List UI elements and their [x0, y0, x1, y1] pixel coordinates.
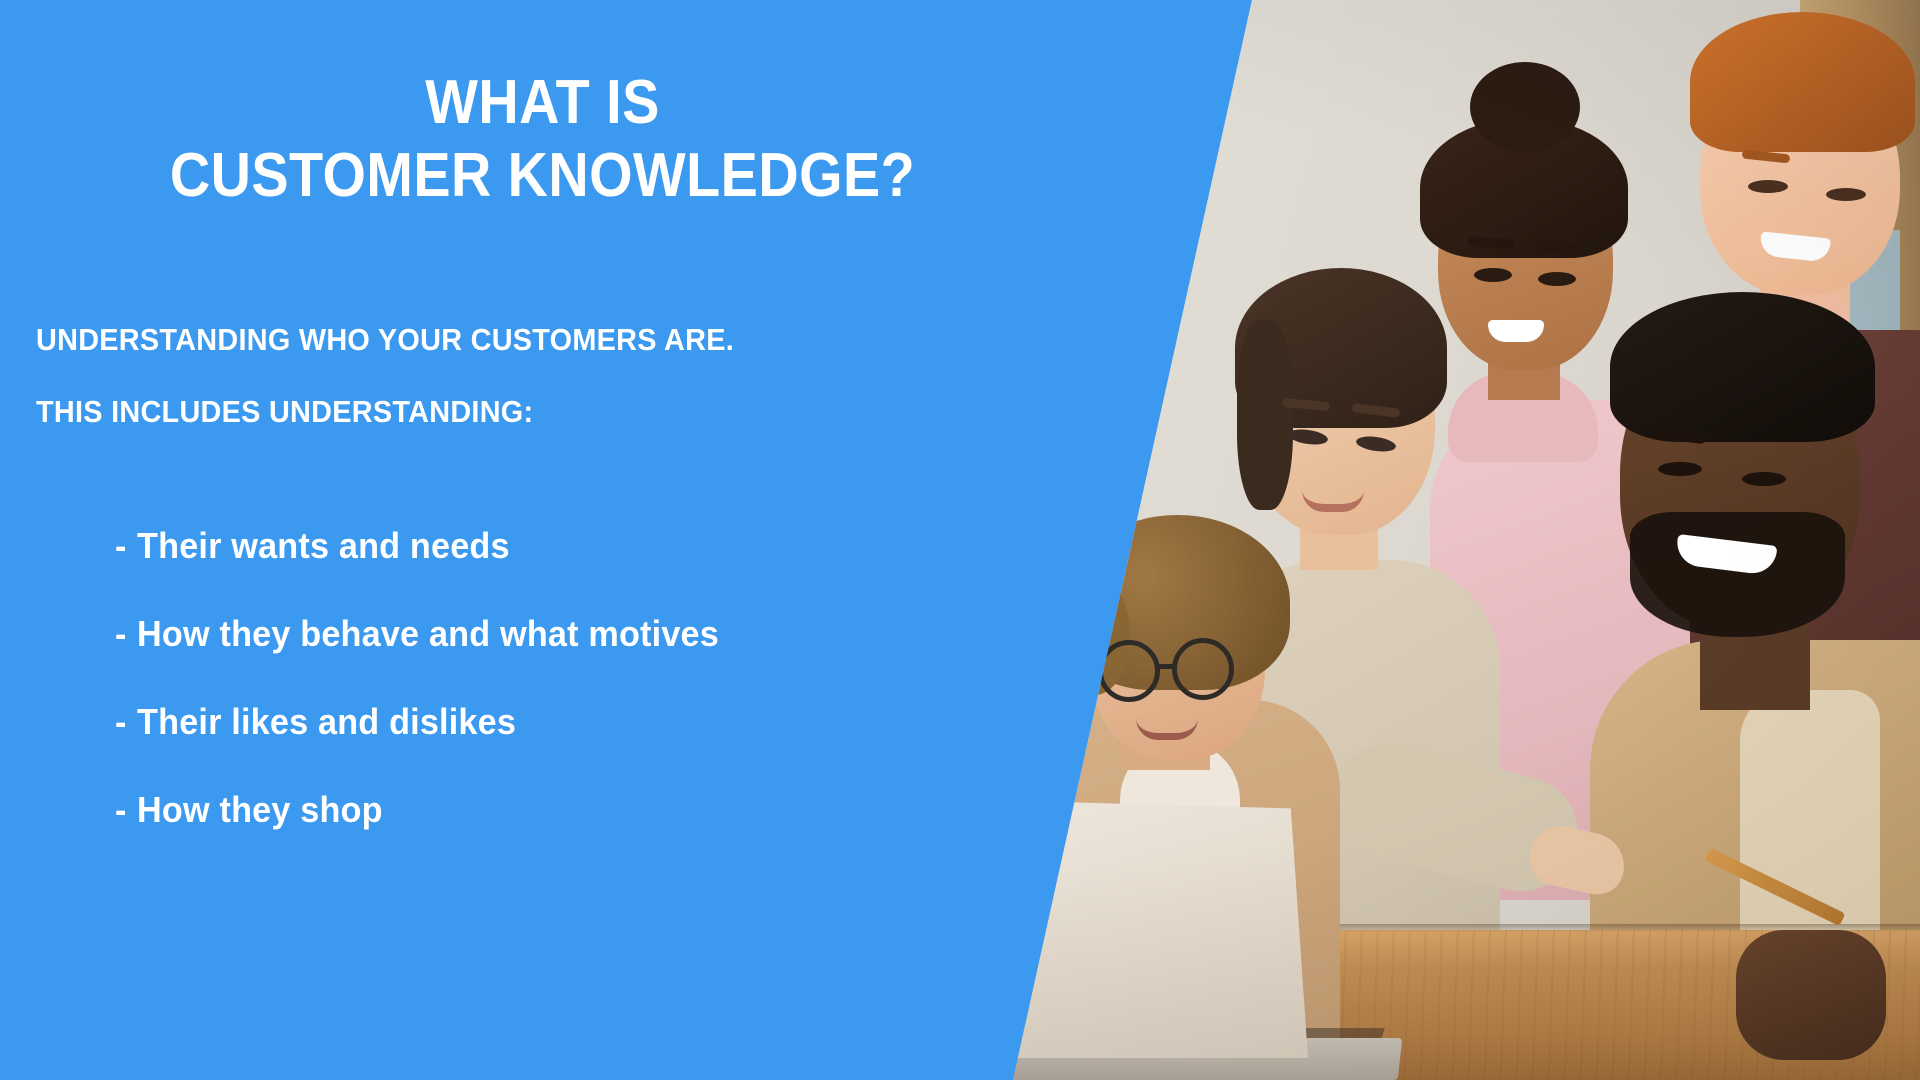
bullet-text: How they behave and what motives: [137, 613, 719, 655]
bullet-dash-icon: -: [115, 613, 127, 655]
list-item: - Their wants and needs: [115, 525, 1065, 613]
text-panel: WHAT IS CUSTOMER KNOWLEDGE? UNDERSTANDIN…: [0, 0, 1180, 1080]
bullet-dash-icon: -: [115, 525, 127, 567]
subtitle-block: UNDERSTANDING WHO YOUR CUSTOMERS ARE. TH…: [36, 322, 1136, 430]
list-item: - How they shop: [115, 789, 1065, 877]
bullet-dash-icon: -: [115, 789, 127, 831]
bullet-text: Their wants and needs: [137, 525, 510, 567]
subtitle-line-1: UNDERSTANDING WHO YOUR CUSTOMERS ARE.: [36, 322, 1059, 358]
list-item: - How they behave and what motives: [115, 613, 1065, 701]
slide-canvas: WHAT IS CUSTOMER KNOWLEDGE? UNDERSTANDIN…: [0, 0, 1920, 1080]
bullet-text: Their likes and dislikes: [137, 701, 516, 743]
subtitle-line-2: THIS INCLUDES UNDERSTANDING:: [36, 394, 1059, 430]
page-title: WHAT IS CUSTOMER KNOWLEDGE?: [54, 66, 1031, 212]
bullet-text: How they shop: [137, 789, 383, 831]
bullet-list: - Their wants and needs - How they behav…: [115, 525, 1115, 877]
title-line-1: WHAT IS: [54, 66, 1031, 139]
bullet-dash-icon: -: [115, 701, 127, 743]
title-line-2: CUSTOMER KNOWLEDGE?: [54, 139, 1031, 212]
list-item: - Their likes and dislikes: [115, 701, 1065, 789]
